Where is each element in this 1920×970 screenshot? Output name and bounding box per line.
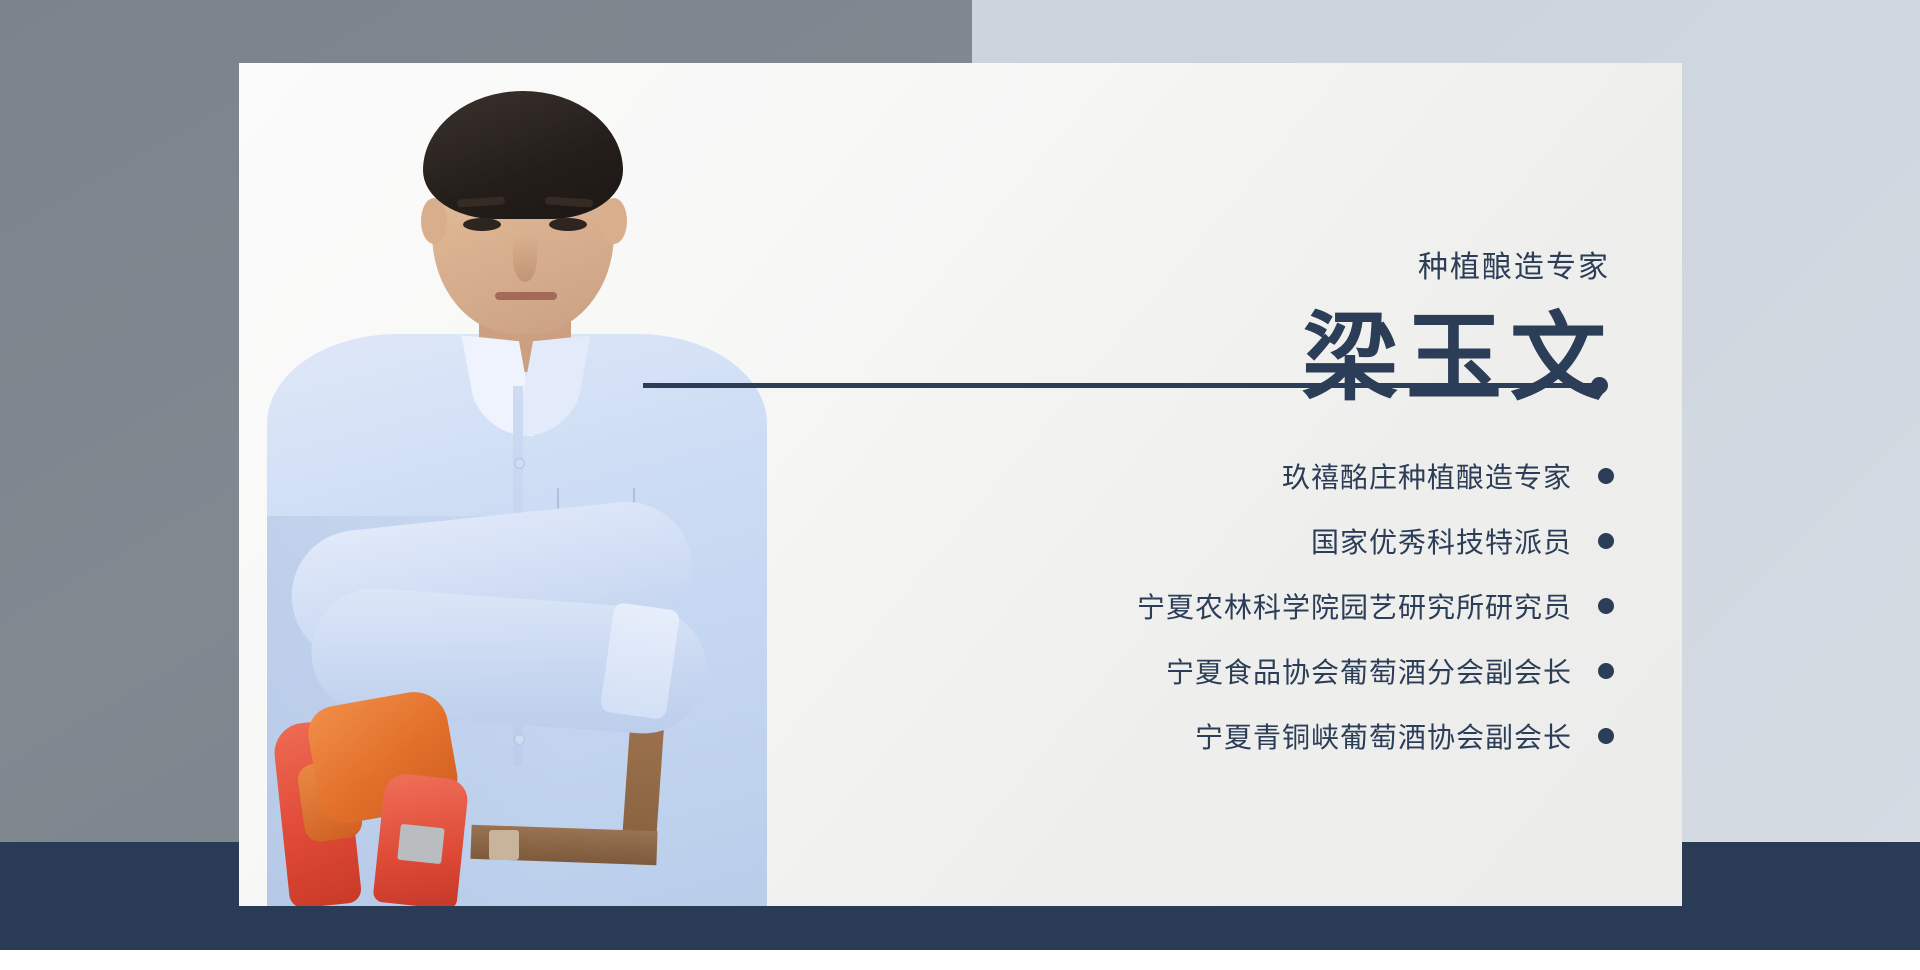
- belt-buckle: [489, 830, 519, 860]
- credentials-list: 玖禧酩庄种植酿造专家 国家优秀科技特派员 宁夏农林科学院园艺研究所研究员 宁夏食…: [814, 449, 1614, 774]
- list-item: 宁夏青铜峡葡萄酒协会副会长: [814, 709, 1614, 763]
- list-item: 宁夏农林科学院园艺研究所研究员: [814, 579, 1614, 633]
- divider-end-dot-icon: [1591, 377, 1608, 394]
- shirt-button: [514, 734, 525, 745]
- tool-label: [397, 824, 445, 864]
- hair: [423, 91, 623, 219]
- profile-banner: 种植酿造专家 梁玉文 玖禧酩庄种植酿造专家 国家优秀科技特派员 宁夏农林科学院园…: [0, 0, 1920, 970]
- bullet-dot-icon: [1598, 468, 1614, 484]
- eye-left: [463, 218, 501, 231]
- credential-label: 宁夏农林科学院园艺研究所研究员: [1137, 586, 1572, 626]
- list-item: 玖禧酩庄种植酿造专家: [814, 449, 1614, 503]
- credential-label: 玖禧酩庄种植酿造专家: [1282, 456, 1572, 496]
- portrait-photo: [239, 63, 859, 906]
- bullet-dot-icon: [1598, 533, 1614, 549]
- bullet-dot-icon: [1598, 663, 1614, 679]
- profile-subtitle: 种植酿造专家: [1418, 253, 1610, 283]
- bullet-dot-icon: [1598, 728, 1614, 744]
- bullet-dot-icon: [1598, 598, 1614, 614]
- nose: [513, 236, 537, 282]
- credential-label: 宁夏青铜峡葡萄酒协会副会长: [1195, 716, 1572, 756]
- ear-right: [601, 198, 627, 244]
- eye-right: [549, 218, 587, 231]
- portrait-figure: [257, 86, 777, 906]
- background-white-strip-left: [0, 950, 972, 970]
- background-white-strip-right: [972, 950, 1920, 970]
- shirt-button: [514, 458, 525, 469]
- credential-label: 宁夏食品协会葡萄酒分会副会长: [1166, 651, 1572, 691]
- credential-label: 国家优秀科技特派员: [1311, 521, 1572, 561]
- ear-left: [421, 198, 447, 244]
- list-item: 国家优秀科技特派员: [814, 514, 1614, 568]
- mouth: [495, 292, 557, 300]
- divider-rule: [643, 383, 1601, 388]
- profile-name: 梁玉文: [1302, 311, 1614, 407]
- profile-card: 种植酿造专家 梁玉文 玖禧酩庄种植酿造专家 国家优秀科技特派员 宁夏农林科学院园…: [239, 63, 1682, 906]
- list-item: 宁夏食品协会葡萄酒分会副会长: [814, 644, 1614, 698]
